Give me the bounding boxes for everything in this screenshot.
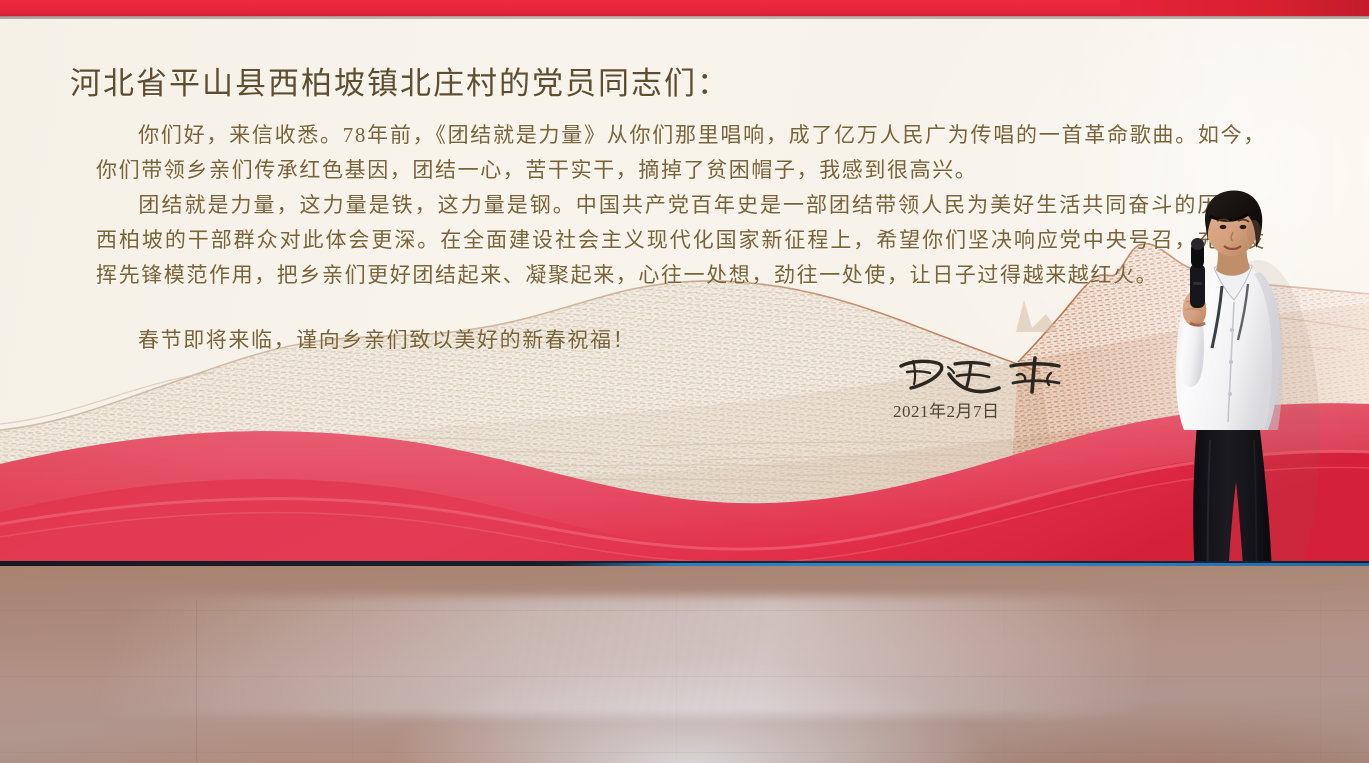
wall-top-trim bbox=[0, 16, 1369, 19]
floor-tile-seam bbox=[1004, 592, 1005, 763]
ceiling-red-band-right bbox=[1120, 0, 1369, 17]
eye-left bbox=[1220, 225, 1227, 229]
floor-tile-seam bbox=[676, 592, 677, 763]
button bbox=[1229, 360, 1233, 364]
floor-tile-seam bbox=[352, 596, 353, 763]
button bbox=[1230, 328, 1234, 332]
hall-floor bbox=[0, 566, 1369, 763]
eye-right bbox=[1240, 225, 1247, 229]
exhibition-photo: 河北省平山县西柏坡镇北庄村的党员同志们： 你们好，来信收悉。78年前，《团结就是… bbox=[0, 0, 1369, 763]
floor-tile-seam bbox=[0, 752, 1369, 753]
floor-tile-seam bbox=[1320, 596, 1321, 763]
microphone-icon bbox=[1190, 238, 1205, 308]
button bbox=[1228, 392, 1232, 396]
floor-tile-seam bbox=[0, 676, 1369, 677]
cheek-shadow bbox=[1247, 220, 1261, 244]
floor-tile-seam bbox=[0, 610, 1369, 611]
floor-tile-seam bbox=[196, 600, 197, 763]
